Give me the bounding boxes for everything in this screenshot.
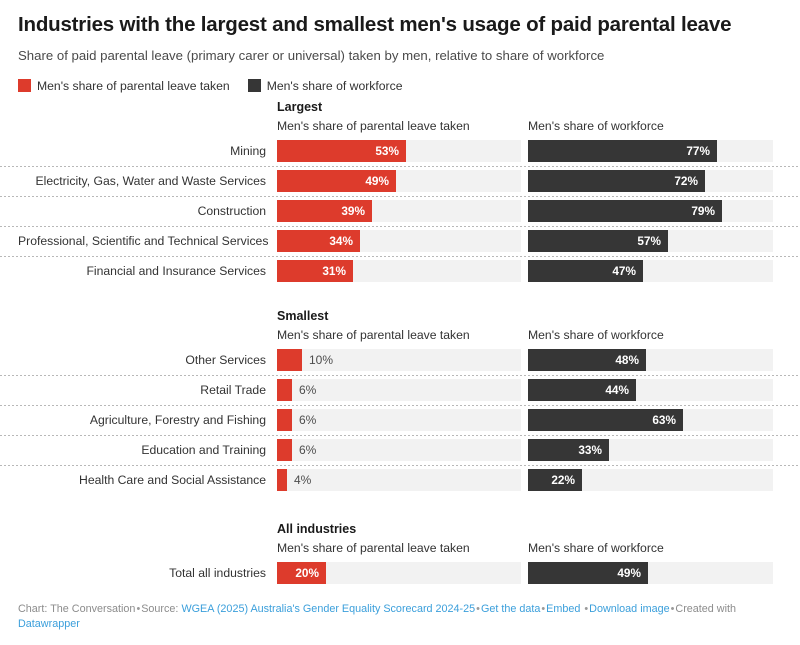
bar-track-workforce: 63%	[528, 409, 773, 431]
bar-track-workforce: 72%	[528, 170, 773, 192]
bar-leave[interactable]	[277, 439, 292, 461]
row-label: Financial and Insurance Services	[18, 264, 277, 278]
column-title-workforce: Men's share of workforce	[528, 325, 773, 345]
section-smallest-rows: Other Services 10% 48% Retail Trade 6%	[18, 345, 782, 495]
column-title-workforce: Men's share of workforce	[528, 116, 773, 136]
bar-value-workforce: 72%	[674, 174, 705, 188]
section-all-title-spacer	[528, 521, 773, 538]
row-label: Education and Training	[18, 443, 277, 457]
section-smallest-title: Smallest	[277, 308, 521, 325]
bar-track-leave: 4%	[277, 469, 521, 491]
table-row[interactable]: Other Services 10% 48%	[18, 345, 782, 375]
bar-leave[interactable]	[277, 379, 292, 401]
source-prefix: Source:	[141, 603, 178, 615]
section-largest-left-head: Largest Men's share of parental leave ta…	[277, 99, 521, 136]
table-row[interactable]: Electricity, Gas, Water and Waste Servic…	[18, 166, 782, 196]
bar-track-leave: 6%	[277, 409, 521, 431]
chart-container: Industries with the largest and smallest…	[0, 0, 800, 645]
section-largest-title-spacer	[528, 99, 773, 116]
table-row[interactable]: Health Care and Social Assistance 4% 22%	[18, 465, 782, 495]
bar-value-workforce: 22%	[551, 473, 582, 487]
table-row[interactable]: Construction 39% 79%	[18, 196, 782, 226]
section-smallest-title-spacer	[528, 308, 773, 325]
bar-value-workforce: 44%	[605, 383, 636, 397]
column-title-leave: Men's share of parental leave taken	[277, 538, 521, 558]
legend: Men's share of parental leave taken Men'…	[18, 64, 782, 99]
bar-workforce[interactable]: 33%	[528, 439, 609, 461]
table-row[interactable]: Financial and Insurance Services 31% 47%	[18, 256, 782, 286]
table-row[interactable]: Agriculture, Forestry and Fishing 6% 63%	[18, 405, 782, 435]
column-title-leave: Men's share of parental leave taken	[277, 325, 521, 345]
bar-track-workforce: 48%	[528, 349, 773, 371]
bar-leave[interactable]: 49%	[277, 170, 396, 192]
embed-link[interactable]: Embed	[546, 603, 580, 615]
section-smallest-head: Smallest Men's share of parental leave t…	[18, 308, 782, 345]
bar-value-workforce: 48%	[615, 353, 646, 367]
bar-value-leave: 39%	[341, 204, 372, 218]
bar-value-workforce: 49%	[617, 566, 648, 580]
row-label: Total all industries	[18, 566, 277, 580]
bar-workforce[interactable]: 44%	[528, 379, 636, 401]
bar-workforce[interactable]: 77%	[528, 140, 717, 162]
bar-track-leave: 20%	[277, 562, 521, 584]
section-gap	[18, 495, 782, 521]
bar-workforce[interactable]: 63%	[528, 409, 683, 431]
table-row[interactable]: Professional, Scientific and Technical S…	[18, 226, 782, 256]
bar-track-leave: 53%	[277, 140, 521, 162]
bar-track-workforce: 57%	[528, 230, 773, 252]
bar-leave[interactable]: 34%	[277, 230, 360, 252]
legend-item-leave[interactable]: Men's share of parental leave taken	[18, 79, 230, 93]
section-all-title: All industries	[277, 521, 521, 538]
section-largest-rows: Mining 53% 77% Electricity, Gas, Water a…	[18, 136, 782, 286]
datawrapper-link[interactable]: Datawrapper	[18, 618, 80, 630]
section-all-rows: Total all industries 20% 49%	[18, 558, 782, 588]
bar-leave[interactable]: 39%	[277, 200, 372, 222]
bar-track-workforce: 47%	[528, 260, 773, 282]
row-label: Health Care and Social Assistance	[18, 473, 277, 487]
bar-value-leave: 6%	[292, 439, 316, 461]
legend-label-workforce: Men's share of workforce	[267, 79, 403, 93]
bar-value-leave: 6%	[292, 379, 316, 401]
section-largest-right-head: Men's share of workforce	[528, 99, 773, 136]
get-the-data-link[interactable]: Get the data	[481, 603, 540, 615]
section-all-head: All industries Men's share of parental l…	[18, 521, 782, 558]
bar-workforce[interactable]: 22%	[528, 469, 582, 491]
bar-track-leave: 6%	[277, 379, 521, 401]
bar-value-workforce: 47%	[612, 264, 643, 278]
bar-track-workforce: 44%	[528, 379, 773, 401]
bar-track-leave: 39%	[277, 200, 521, 222]
bar-value-leave: 20%	[295, 566, 326, 580]
bar-workforce[interactable]: 79%	[528, 200, 722, 222]
row-label: Mining	[18, 144, 277, 158]
bar-leave[interactable]	[277, 349, 302, 371]
bar-value-leave: 31%	[322, 264, 353, 278]
table-row[interactable]: Total all industries 20% 49%	[18, 558, 782, 588]
bar-track-workforce: 77%	[528, 140, 773, 162]
bar-leave[interactable]: 31%	[277, 260, 353, 282]
row-label: Other Services	[18, 353, 277, 367]
bar-value-workforce: 57%	[637, 234, 668, 248]
bar-value-leave: 53%	[375, 144, 406, 158]
table-row[interactable]: Retail Trade 6% 44%	[18, 375, 782, 405]
row-label: Professional, Scientific and Technical S…	[18, 234, 277, 248]
bar-workforce[interactable]: 72%	[528, 170, 705, 192]
section-all-right-head: Men's share of workforce	[528, 521, 773, 558]
bar-value-workforce: 79%	[691, 204, 722, 218]
section-gap	[18, 286, 782, 308]
bar-workforce[interactable]: 47%	[528, 260, 643, 282]
chart-footer: Chart: The Conversation•Source: WGEA (20…	[18, 602, 782, 633]
section-all-left-head: All industries Men's share of parental l…	[277, 521, 521, 558]
legend-label-leave: Men's share of parental leave taken	[37, 79, 230, 93]
bar-leave[interactable]	[277, 469, 287, 491]
bar-value-leave: 49%	[365, 174, 396, 188]
bar-value-leave: 34%	[329, 234, 360, 248]
section-largest: Largest Men's share of parental leave ta…	[18, 99, 782, 286]
bar-track-workforce: 49%	[528, 562, 773, 584]
bar-value-leave: 10%	[302, 349, 333, 371]
bar-value-workforce: 63%	[652, 413, 683, 427]
bar-track-workforce: 33%	[528, 439, 773, 461]
bar-workforce[interactable]: 57%	[528, 230, 668, 252]
bar-value-workforce: 33%	[578, 443, 609, 457]
legend-swatch-dark	[248, 79, 261, 92]
bar-track-leave: 31%	[277, 260, 521, 282]
column-title-workforce: Men's share of workforce	[528, 538, 773, 558]
section-smallest-left-head: Smallest Men's share of parental leave t…	[277, 308, 521, 345]
bar-value-workforce: 77%	[686, 144, 717, 158]
column-title-leave: Men's share of parental leave taken	[277, 116, 521, 136]
row-label: Agriculture, Forestry and Fishing	[18, 413, 277, 427]
bar-leave[interactable]: 53%	[277, 140, 406, 162]
created-with-label: Created with	[675, 603, 736, 615]
bar-value-leave: 6%	[292, 409, 316, 431]
bar-track-leave: 34%	[277, 230, 521, 252]
legend-swatch-red	[18, 79, 31, 92]
row-label: Construction	[18, 204, 277, 218]
table-row[interactable]: Education and Training 6% 33%	[18, 435, 782, 465]
section-all-industries: All industries Men's share of parental l…	[18, 521, 782, 588]
row-label: Electricity, Gas, Water and Waste Servic…	[18, 174, 277, 188]
bar-leave[interactable]: 20%	[277, 562, 326, 584]
download-image-link[interactable]: Download image	[589, 603, 669, 615]
bar-workforce[interactable]: 48%	[528, 349, 646, 371]
page-title: Industries with the largest and smallest…	[18, 0, 782, 38]
bar-track-workforce: 22%	[528, 469, 773, 491]
table-row[interactable]: Mining 53% 77%	[18, 136, 782, 166]
bar-track-leave: 6%	[277, 439, 521, 461]
bar-track-workforce: 79%	[528, 200, 773, 222]
bar-value-leave: 4%	[287, 469, 311, 491]
chart-credit: Chart: The Conversation	[18, 603, 135, 615]
legend-item-workforce[interactable]: Men's share of workforce	[248, 79, 403, 93]
bar-workforce[interactable]: 49%	[528, 562, 648, 584]
source-link[interactable]: WGEA (2025) Australia's Gender Equality …	[181, 603, 475, 615]
row-label: Retail Trade	[18, 383, 277, 397]
bar-leave[interactable]	[277, 409, 292, 431]
bar-track-leave: 49%	[277, 170, 521, 192]
section-largest-head: Largest Men's share of parental leave ta…	[18, 99, 782, 136]
section-smallest-right-head: Men's share of workforce	[528, 308, 773, 345]
section-largest-title: Largest	[277, 99, 521, 116]
chart-subtitle: Share of paid parental leave (primary ca…	[18, 38, 782, 64]
bar-track-leave: 10%	[277, 349, 521, 371]
section-smallest: Smallest Men's share of parental leave t…	[18, 308, 782, 495]
